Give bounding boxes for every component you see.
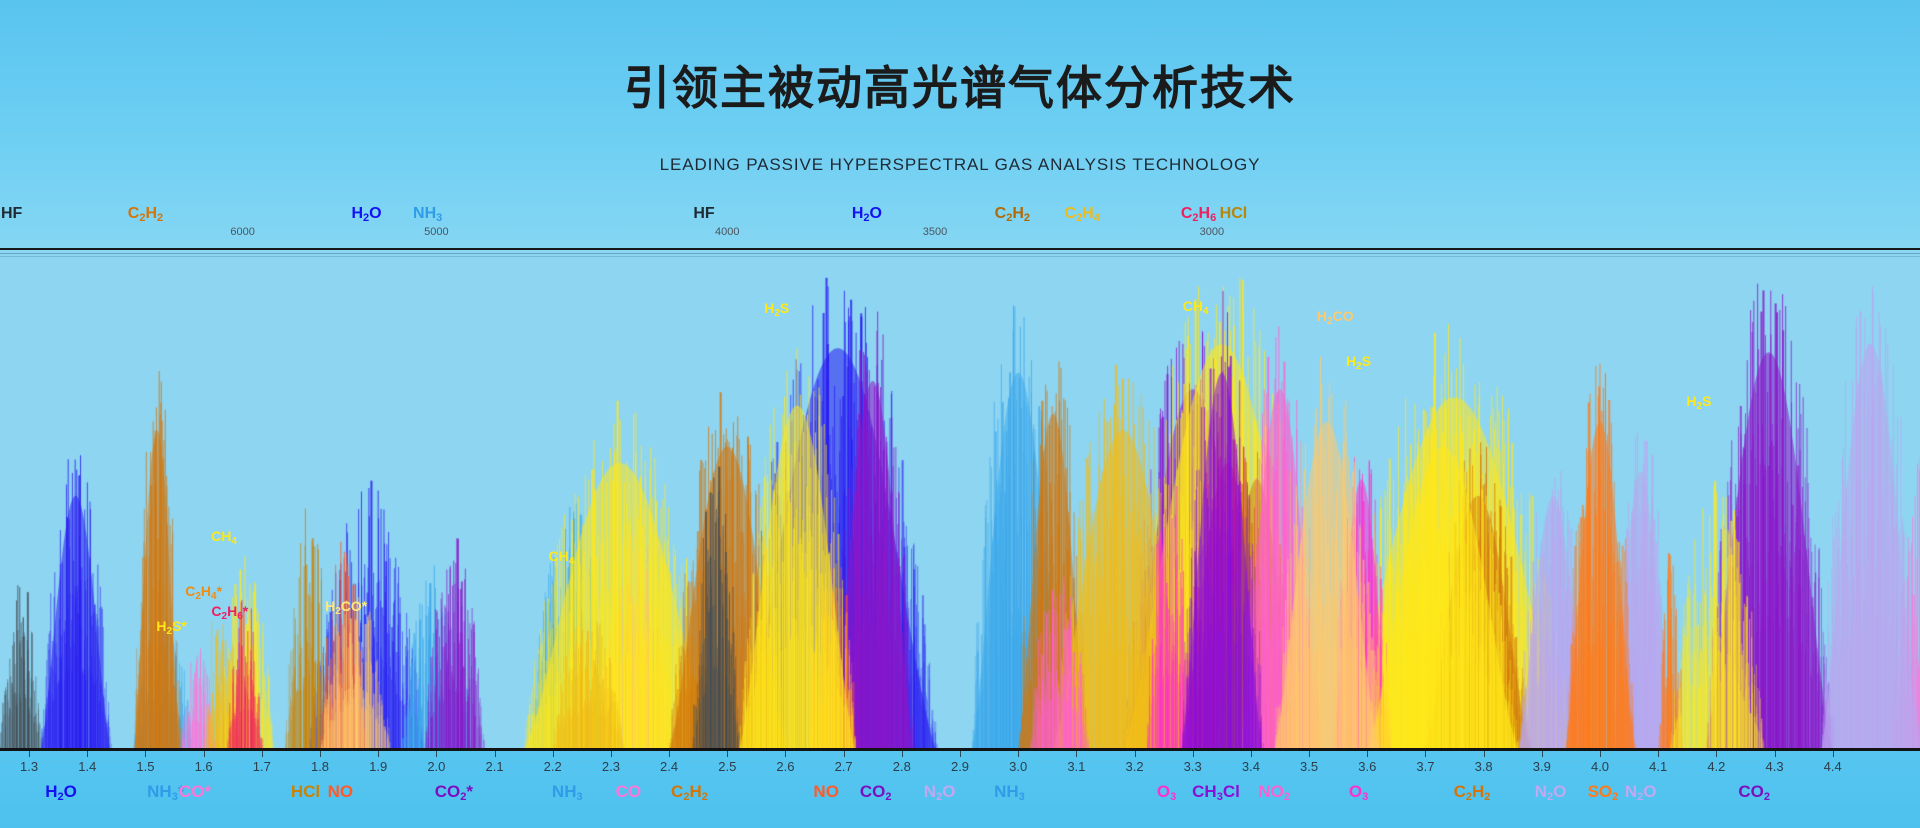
x-tick-mark-3.2 xyxy=(1135,751,1136,757)
spectral-poster: 引领主被动高光谱气体分析技术 LEADING PASSIVE HYPERSPEC… xyxy=(0,0,1920,828)
top-species-label-h2o: H2O xyxy=(351,205,381,223)
bottom-species-label-no2: NO2 xyxy=(1258,782,1290,802)
page-subtitle: LEADING PASSIVE HYPERSPECTRAL GAS ANALYS… xyxy=(0,155,1920,175)
wavenumber-tick-3500: 3500 xyxy=(923,226,947,238)
bottom-species-label-so2: SO2 xyxy=(1588,782,1619,802)
x-tick-mark-1.7 xyxy=(262,751,263,757)
header-band: 引领主被动高光谱气体分析技术 LEADING PASSIVE HYPERSPEC… xyxy=(0,0,1920,248)
top-species-label-h2o: H2O xyxy=(852,205,882,223)
bottom-species-label-no: NO xyxy=(328,782,354,802)
top-species-label-c2h4: C2H4 xyxy=(1064,205,1099,223)
x-tick-mark-2.6 xyxy=(785,751,786,757)
bottom-species-label-nh3: NH3 xyxy=(994,782,1025,802)
x-tick-label-2.3: 2.3 xyxy=(602,759,620,774)
x-tick-label-2.0: 2.0 xyxy=(427,759,445,774)
x-tick-label-4.2: 4.2 xyxy=(1707,759,1725,774)
x-tick-label-4.4: 4.4 xyxy=(1824,759,1842,774)
x-tick-mark-1.4 xyxy=(87,751,88,757)
x-tick-mark-4.0 xyxy=(1600,751,1601,757)
x-tick-label-2.1: 2.1 xyxy=(485,759,503,774)
page-title: 引领主被动高光谱气体分析技术 xyxy=(0,52,1920,118)
x-tick-mark-3.9 xyxy=(1542,751,1543,757)
x-tick-label-1.4: 1.4 xyxy=(78,759,96,774)
top-species-label-hf: HF xyxy=(1,205,22,223)
x-tick-mark-2.7 xyxy=(844,751,845,757)
bottom-species-label-ch3cl: CH3Cl xyxy=(1192,782,1240,802)
bottom-species-label-no: NO xyxy=(813,782,839,802)
bottom-species-label-c2h2: C2H2 xyxy=(671,782,708,802)
x-tick-label-4.0: 4.0 xyxy=(1591,759,1609,774)
x-tick-mark-2.8 xyxy=(902,751,903,757)
x-tick-mark-3.3 xyxy=(1193,751,1194,757)
x-tick-mark-4.2 xyxy=(1716,751,1717,757)
bottom-species-label-co2: CO2 xyxy=(860,782,892,802)
x-tick-label-2.9: 2.9 xyxy=(951,759,969,774)
top-species-label-nh3: NH3 xyxy=(413,205,442,223)
x-tick-mark-3.8 xyxy=(1484,751,1485,757)
spectrum-plot: H2SCH4H2COH2SH2SCH4CH4C2H4*C2H6*H2S*H2CO… xyxy=(0,248,1920,750)
x-axis-area: 1.31.41.51.61.71.81.92.02.12.22.32.42.52… xyxy=(0,751,1920,828)
x-tick-mark-4.4 xyxy=(1833,751,1834,757)
x-tick-label-3.6: 3.6 xyxy=(1358,759,1376,774)
top-species-label-hcl: HCl xyxy=(1220,205,1248,223)
x-tick-label-2.4: 2.4 xyxy=(660,759,678,774)
x-tick-mark-3.4 xyxy=(1251,751,1252,757)
bottom-species-label-n2o: N2O xyxy=(924,782,956,802)
x-tick-mark-1.5 xyxy=(145,751,146,757)
x-tick-mark-4.1 xyxy=(1658,751,1659,757)
x-tick-label-2.6: 2.6 xyxy=(776,759,794,774)
x-tick-mark-3.6 xyxy=(1367,751,1368,757)
x-tick-label-1.8: 1.8 xyxy=(311,759,329,774)
x-tick-label-3.7: 3.7 xyxy=(1416,759,1434,774)
top-species-label-hf: HF xyxy=(693,205,714,223)
x-tick-mark-3.5 xyxy=(1309,751,1310,757)
wavenumber-tick-4000: 4000 xyxy=(715,226,739,238)
bottom-species-label-costar: CO* xyxy=(179,782,211,802)
x-tick-mark-3.1 xyxy=(1076,751,1077,757)
x-tick-mark-3.7 xyxy=(1425,751,1426,757)
x-tick-label-3.2: 3.2 xyxy=(1125,759,1143,774)
x-tick-mark-2.4 xyxy=(669,751,670,757)
bottom-species-label-c2h2: C2H2 xyxy=(1454,782,1491,802)
top-species-label-c2h2: C2H2 xyxy=(995,205,1030,223)
bottom-species-label-co: CO xyxy=(616,782,642,802)
x-tick-mark-2.3 xyxy=(611,751,612,757)
spectrum-canvas xyxy=(0,250,1920,750)
bottom-species-label-o3: O3 xyxy=(1157,782,1176,802)
x-tick-mark-2.5 xyxy=(727,751,728,757)
x-tick-mark-1.6 xyxy=(204,751,205,757)
x-tick-label-3.1: 3.1 xyxy=(1067,759,1085,774)
x-tick-mark-2.1 xyxy=(495,751,496,757)
wavenumber-tick-3000: 3000 xyxy=(1200,226,1224,238)
bottom-species-label-n2o: N2O xyxy=(1535,782,1567,802)
x-tick-label-1.5: 1.5 xyxy=(136,759,154,774)
x-tick-mark-1.8 xyxy=(320,751,321,757)
bottom-species-label-co2: CO2 xyxy=(1738,782,1770,802)
x-tick-label-4.3: 4.3 xyxy=(1765,759,1783,774)
x-tick-label-3.5: 3.5 xyxy=(1300,759,1318,774)
x-tick-label-3.8: 3.8 xyxy=(1475,759,1493,774)
x-tick-mark-1.9 xyxy=(378,751,379,757)
bottom-species-label-hcl: HCl xyxy=(291,782,320,802)
x-tick-label-2.7: 2.7 xyxy=(835,759,853,774)
wavenumber-tick-6000: 6000 xyxy=(230,226,254,238)
x-tick-mark-2.2 xyxy=(553,751,554,757)
bottom-species-label-h2o: H2O xyxy=(45,782,77,802)
x-tick-mark-1.3 xyxy=(29,751,30,757)
bottom-species-label-nh3: NH3 xyxy=(552,782,583,802)
x-tick-mark-2.9 xyxy=(960,751,961,757)
x-tick-label-3.3: 3.3 xyxy=(1184,759,1202,774)
top-species-label-c2h2: C2H2 xyxy=(128,205,163,223)
x-tick-mark-4.3 xyxy=(1775,751,1776,757)
x-tick-label-2.5: 2.5 xyxy=(718,759,736,774)
bottom-species-label-o3: O3 xyxy=(1349,782,1368,802)
x-tick-label-1.6: 1.6 xyxy=(195,759,213,774)
x-tick-label-3.0: 3.0 xyxy=(1009,759,1027,774)
bottom-species-label-n2o: N2O xyxy=(1625,782,1657,802)
x-tick-label-3.9: 3.9 xyxy=(1533,759,1551,774)
x-tick-label-1.9: 1.9 xyxy=(369,759,387,774)
bottom-species-label-co2star: CO2* xyxy=(435,782,473,802)
x-tick-mark-3.0 xyxy=(1018,751,1019,757)
x-tick-label-2.2: 2.2 xyxy=(544,759,562,774)
x-tick-mark-2.0 xyxy=(436,751,437,757)
x-tick-label-1.3: 1.3 xyxy=(20,759,38,774)
x-tick-label-4.1: 4.1 xyxy=(1649,759,1667,774)
wavenumber-tick-5000: 5000 xyxy=(424,226,448,238)
x-tick-label-3.4: 3.4 xyxy=(1242,759,1260,774)
x-tick-label-2.8: 2.8 xyxy=(893,759,911,774)
top-species-label-c2h6: C2H6 xyxy=(1181,205,1216,223)
x-tick-label-1.7: 1.7 xyxy=(253,759,271,774)
